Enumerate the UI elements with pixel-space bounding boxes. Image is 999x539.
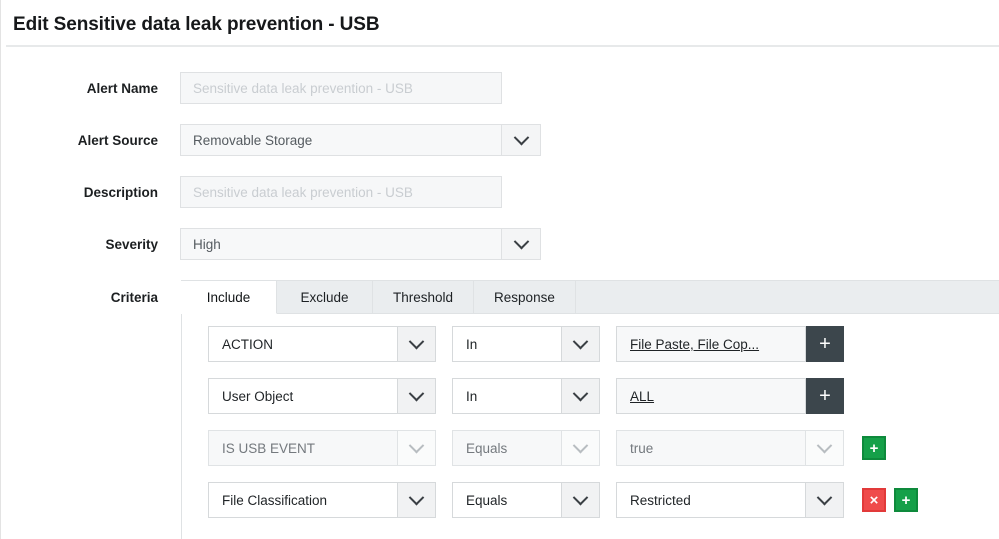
- tab-threshold-label: Threshold: [393, 290, 453, 305]
- criteria-row: File Classification Equals Restricted: [182, 482, 999, 518]
- criteria-operator-value[interactable]: In: [452, 326, 562, 362]
- description-input[interactable]: Sensitive data leak prevention - USB: [180, 176, 502, 208]
- chevron-down-icon: [409, 437, 425, 453]
- criteria-row: ACTION In File Paste, File Cop...: [182, 326, 999, 362]
- description-control[interactable]: Sensitive data leak prevention - USB: [180, 176, 502, 208]
- criteria-field-select[interactable]: IS USB EVENT: [208, 430, 436, 466]
- criteria-field-select[interactable]: File Classification: [208, 482, 436, 518]
- label-alert-name: Alert Name: [1, 81, 158, 96]
- criteria-field-select[interactable]: ACTION: [208, 326, 436, 362]
- field-row-description: Description Sensitive data leak preventi…: [1, 176, 502, 208]
- criteria-row: User Object In ALL: [182, 378, 999, 414]
- severity-select[interactable]: High: [180, 228, 541, 260]
- criteria-field-value[interactable]: File Classification: [208, 482, 398, 518]
- chevron-down-icon: [409, 489, 425, 505]
- criteria-operator-dropdown-button[interactable]: [562, 326, 600, 362]
- label-description: Description: [1, 185, 158, 200]
- criteria-value-picker[interactable]: File Paste, File Cop... +: [616, 326, 844, 362]
- label-severity: Severity: [1, 237, 158, 252]
- plus-icon: +: [870, 441, 879, 456]
- tab-response-label: Response: [494, 290, 555, 305]
- criteria-field-value[interactable]: IS USB EVENT: [208, 430, 398, 466]
- criteria-panel-include: ACTION In File Paste, File Cop...: [181, 314, 999, 539]
- tab-threshold[interactable]: Threshold: [373, 281, 474, 313]
- criteria-value-link[interactable]: File Paste, File Cop...: [616, 326, 806, 362]
- chevron-down-icon: [817, 437, 833, 453]
- alert-source-select[interactable]: Removable Storage: [180, 124, 541, 156]
- criteria-operator-value[interactable]: Equals: [452, 482, 562, 518]
- label-criteria: Criteria: [1, 290, 158, 305]
- chevron-down-icon: [573, 489, 589, 505]
- tab-include-label: Include: [207, 290, 251, 305]
- label-alert-source: Alert Source: [1, 133, 158, 148]
- criteria-value-text[interactable]: true: [616, 430, 806, 466]
- criteria-field-dropdown-button[interactable]: [398, 482, 436, 518]
- tab-include[interactable]: Include: [181, 281, 277, 314]
- criteria-field-value[interactable]: ACTION: [208, 326, 398, 362]
- criteria-row: IS USB EVENT Equals true: [182, 430, 999, 466]
- criteria-value-select[interactable]: Restricted: [616, 482, 844, 518]
- criteria-tabstrip: Include Exclude Threshold Response: [181, 280, 999, 314]
- chevron-down-icon: [573, 385, 589, 401]
- criteria-value-text: ALL: [630, 389, 654, 404]
- tabstrip-filler: [576, 281, 999, 313]
- criteria-row-actions: × +: [862, 488, 918, 512]
- criteria-operator-select[interactable]: In: [452, 378, 600, 414]
- criteria-value-select[interactable]: true: [616, 430, 844, 466]
- criteria-field-select[interactable]: User Object: [208, 378, 436, 414]
- chevron-down-icon: [409, 385, 425, 401]
- chevron-down-icon: [817, 489, 833, 505]
- criteria-value-dropdown-button[interactable]: [806, 482, 844, 518]
- alert-name-control[interactable]: Sensitive data leak prevention - USB: [180, 72, 502, 104]
- chevron-down-icon: [409, 333, 425, 349]
- criteria-field-dropdown-button[interactable]: [398, 326, 436, 362]
- alert-name-input[interactable]: Sensitive data leak prevention - USB: [180, 72, 502, 104]
- criteria-operator-value[interactable]: In: [452, 378, 562, 414]
- criteria-field-dropdown-button[interactable]: [398, 378, 436, 414]
- criteria-value-link[interactable]: ALL: [616, 378, 806, 414]
- severity-dropdown-button[interactable]: [502, 228, 541, 260]
- add-criteria-button[interactable]: +: [862, 436, 886, 460]
- tab-exclude[interactable]: Exclude: [277, 281, 373, 313]
- close-icon: ×: [870, 493, 879, 508]
- page-title: Edit Sensitive data leak prevention - US…: [13, 14, 380, 36]
- add-criteria-button[interactable]: +: [894, 488, 918, 512]
- chevron-down-icon: [513, 233, 529, 249]
- criteria-value-dropdown-button[interactable]: [806, 430, 844, 466]
- edit-alert-page: Edit Sensitive data leak prevention - US…: [0, 0, 999, 539]
- criteria-operator-select[interactable]: Equals: [452, 430, 600, 466]
- criteria-operator-select[interactable]: Equals: [452, 482, 600, 518]
- chevron-down-icon: [573, 333, 589, 349]
- criteria-value-text: File Paste, File Cop...: [630, 337, 759, 352]
- criteria-value-add-button[interactable]: +: [806, 378, 844, 414]
- criteria-value-text[interactable]: Restricted: [616, 482, 806, 518]
- field-row-alert-name: Alert Name Sensitive data leak preventio…: [1, 72, 502, 104]
- criteria-operator-select[interactable]: In: [452, 326, 600, 362]
- plus-icon: +: [819, 386, 831, 406]
- criteria-block: Include Exclude Threshold Response ACTIO…: [181, 280, 999, 539]
- alert-source-dropdown-button[interactable]: [502, 124, 541, 156]
- criteria-operator-dropdown-button[interactable]: [562, 378, 600, 414]
- severity-value[interactable]: High: [180, 228, 502, 260]
- plus-icon: +: [819, 334, 831, 354]
- field-row-severity: Severity High: [1, 228, 541, 260]
- remove-criteria-button[interactable]: ×: [862, 488, 886, 512]
- tab-exclude-label: Exclude: [300, 290, 348, 305]
- criteria-value-add-button[interactable]: +: [806, 326, 844, 362]
- criteria-operator-value[interactable]: Equals: [452, 430, 562, 466]
- criteria-field-value[interactable]: User Object: [208, 378, 398, 414]
- tab-response[interactable]: Response: [474, 281, 576, 313]
- criteria-row-actions: +: [862, 436, 886, 460]
- plus-icon: +: [902, 493, 911, 508]
- criteria-field-dropdown-button[interactable]: [398, 430, 436, 466]
- field-row-alert-source: Alert Source Removable Storage: [1, 124, 541, 156]
- title-divider: [6, 45, 999, 47]
- criteria-operator-dropdown-button[interactable]: [562, 430, 600, 466]
- criteria-value-picker[interactable]: ALL +: [616, 378, 844, 414]
- alert-source-value[interactable]: Removable Storage: [180, 124, 502, 156]
- chevron-down-icon: [513, 129, 529, 145]
- criteria-operator-dropdown-button[interactable]: [562, 482, 600, 518]
- chevron-down-icon: [573, 437, 589, 453]
- field-row-criteria: Criteria: [1, 281, 158, 313]
